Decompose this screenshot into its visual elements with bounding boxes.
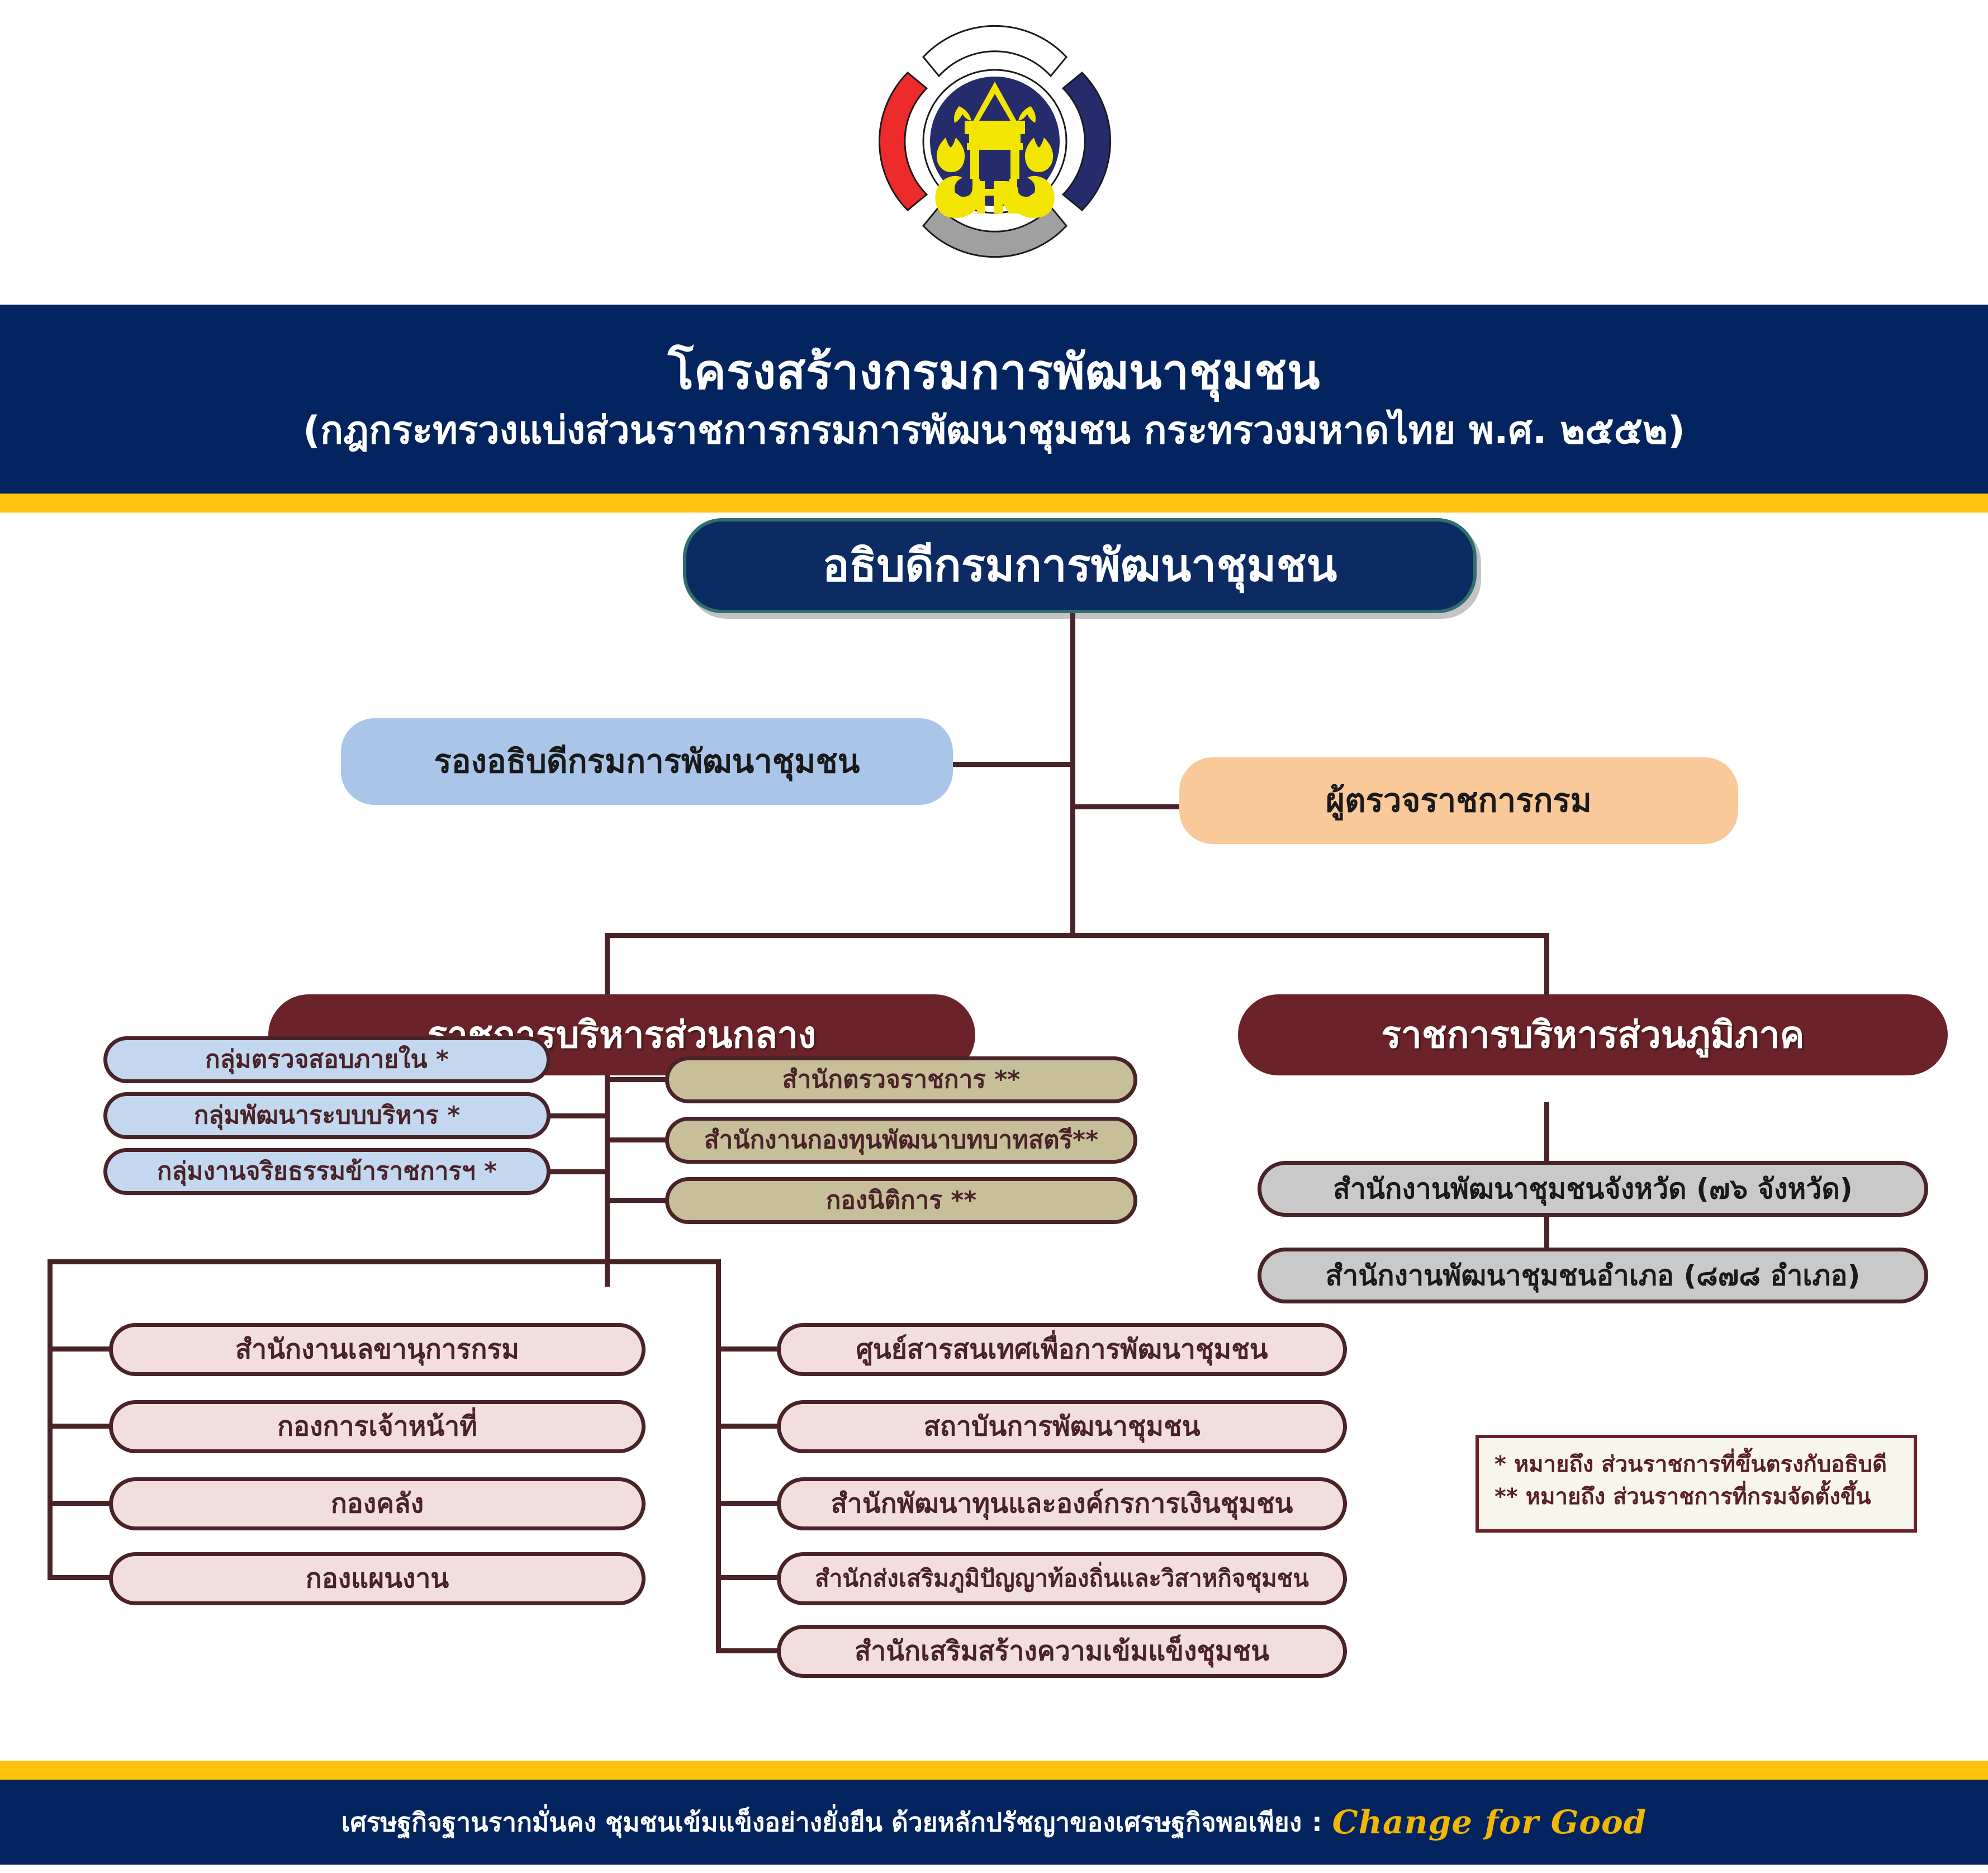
cdd-emblem-logo (861, 10, 1129, 273)
box-director-label: อธิบดีกรมการพัฒนาชุมชน (823, 542, 1337, 589)
footer-tagline: เศรษฐกิจฐานรากมั่นคง ชุมชนเข้มแข็งอย่างย… (341, 1802, 1302, 1843)
connector-olive-2 (605, 1137, 666, 1142)
connector-director-trunk (1070, 613, 1075, 937)
box-legal-affairs-division[interactable]: กองนิติการ ** (665, 1177, 1137, 1224)
box-office-of-the-secretary[interactable]: สำนักงานเลขานุการกรม (109, 1323, 646, 1376)
connector-olive-1 (605, 1077, 666, 1082)
connector-central-spine (605, 1046, 610, 1287)
header-accent-rule (0, 494, 1988, 513)
footer-slogan: Change for Good (1332, 1803, 1647, 1841)
box-community-strengthening-bureau[interactable]: สำนักเสริมสร้างความเข้มแข็งชุมชน (777, 1625, 1347, 1678)
connector-pinkL-2 (48, 1424, 112, 1429)
box-womens-development-fund-office-label: สำนักงานกองทุนพัฒนาบทบาทสตรี** (704, 1127, 1098, 1153)
box-admin-system-development-group[interactable]: กลุ่มพัฒนาระบบบริหาร * (103, 1092, 551, 1139)
connector-pinkL-3 (48, 1501, 112, 1506)
connector-blue-3 (548, 1169, 609, 1174)
page-subtitle: (กฎกระทรวงแบ่งส่วนราชการกรมการพัฒนาชุมชน… (303, 408, 1685, 454)
box-local-wisdom-and-enterprise-bureau-label: สำนักส่งเสริมภูมิปัญญาท้องถิ่นและวิสาหกิ… (815, 1566, 1309, 1591)
box-finance-division-label: กองคลัง (331, 1490, 424, 1518)
connector-lower-left-rail (48, 1259, 53, 1578)
box-personnel-division-label: กองการเจ้าหน้าที่ (277, 1412, 477, 1440)
box-admin-system-development-group-label: กลุ่มพัฒนาระบบบริหาร * (194, 1103, 461, 1128)
box-provincial-cdd-office[interactable]: สำนักงานพัฒนาชุมชนจังหวัด (๗๖ จังหวัด) (1258, 1161, 1928, 1217)
page-footer: เศรษฐกิจฐานรากมั่นคง ชุมชนเข้มแข็งอย่างย… (0, 1780, 1988, 1865)
box-community-development-institute[interactable]: สถาบันการพัฒนาชุมชน (777, 1400, 1347, 1453)
org-chart: อธิบดีกรมการพัฒนาชุมชน รองอธิบดีกรมการพั… (0, 513, 1988, 1759)
box-deputy-director[interactable]: รองอธิบดีกรมการพัฒนาชุมชน (341, 718, 953, 805)
connector-pinkR-5 (716, 1648, 780, 1653)
box-provincial-cdd-office-label: สำนักงานพัฒนาชุมชนจังหวัด (๗๖ จังหวัด) (1333, 1174, 1852, 1204)
box-deputy-director-label: รองอธิบดีกรมการพัฒนาชุมชน (434, 745, 860, 779)
box-community-development-institute-label: สถาบันการพัฒนาชุมชน (924, 1412, 1201, 1440)
page-header: โครงสร้างกรมการพัฒนาชุมชน (กฎกระทรวงแบ่ง… (0, 305, 1988, 494)
box-finance-division[interactable]: กองคลัง (109, 1477, 646, 1530)
box-internal-audit-group-label: กลุ่มตรวจสอบภายใน * (205, 1047, 449, 1073)
box-inspection-bureau[interactable]: สำนักตรวจราชการ ** (665, 1056, 1137, 1103)
box-department-inspector-label: ผู้ตรวจราชการกรม (1326, 784, 1592, 818)
legend-box: * หมายถึง ส่วนราชการที่ขึ้นตรงกับอธิบดี … (1475, 1435, 1917, 1533)
box-legal-affairs-division-label: กองนิติการ ** (826, 1188, 977, 1213)
box-district-cdd-office[interactable]: สำนักงานพัฒนาชุมชนอำเภอ (๘๗๘ อำเภอ) (1258, 1248, 1928, 1303)
box-personnel-division[interactable]: กองการเจ้าหน้าที่ (109, 1400, 646, 1453)
connector-regional-drop (1544, 933, 1549, 994)
box-planning-division[interactable]: กองแผนงาน (109, 1552, 646, 1605)
page-title: โครงสร้างกรมการพัฒนาชุมชน (668, 344, 1320, 401)
connector-lower-right-rail (716, 1259, 721, 1651)
connector-central-drop (605, 933, 610, 994)
connector-deputy (950, 762, 1073, 767)
cdd-emblem-svg (861, 10, 1129, 273)
connector-blue-2 (548, 1113, 609, 1118)
connector-main-bus (605, 933, 1549, 938)
box-community-development-information-center-label: ศูนย์สารสนเทศเพื่อการพัฒนาชุมชน (856, 1335, 1268, 1363)
box-planning-division-label: กองแผนงาน (306, 1564, 449, 1592)
box-department-inspector[interactable]: ผู้ตรวจราชการกรม (1179, 757, 1738, 844)
connector-pinkR-4 (716, 1575, 780, 1580)
box-internal-audit-group[interactable]: กลุ่มตรวจสอบภายใน * (103, 1036, 551, 1083)
connector-pinkR-1 (716, 1346, 780, 1352)
connector-inspector (1070, 804, 1182, 809)
box-local-wisdom-and-enterprise-bureau[interactable]: สำนักส่งเสริมภูมิปัญญาท้องถิ่นและวิสาหกิ… (777, 1552, 1347, 1605)
box-regional-administration[interactable]: ราชการบริหารส่วนภูมิภาค (1238, 994, 1948, 1075)
box-community-strengthening-bureau-label: สำนักเสริมสร้างความเข้มแข็งชุมชน (855, 1637, 1269, 1665)
box-community-development-information-center[interactable]: ศูนย์สารสนเทศเพื่อการพัฒนาชุมชน (777, 1323, 1347, 1376)
box-capital-and-community-finance-bureau[interactable]: สำนักพัฒนาทุนและองค์กรการเงินชุมชน (777, 1477, 1347, 1530)
box-regional-administration-label: ราชการบริหารส่วนภูมิภาค (1381, 1016, 1804, 1054)
box-office-of-the-secretary-label: สำนักงานเลขานุการกรม (235, 1335, 519, 1363)
box-womens-development-fund-office[interactable]: สำนักงานกองทุนพัฒนาบทบาทสตรี** (665, 1117, 1137, 1164)
legend-line-2: ** หมายถึง ส่วนราชการที่กรมจัดตั้งขึ้น (1494, 1481, 1898, 1513)
connector-lower-bus (48, 1259, 721, 1264)
connector-pinkR-2 (716, 1424, 780, 1429)
legend-line-1: * หมายถึง ส่วนราชการที่ขึ้นตรงกับอธิบดี (1494, 1448, 1898, 1481)
connector-olive-3 (605, 1198, 666, 1203)
footer-separator: : (1312, 1807, 1322, 1837)
connector-pinkL-1 (48, 1346, 112, 1352)
connector-pinkR-3 (716, 1501, 780, 1506)
box-director[interactable]: อธิบดีกรมการพัฒนาชุมชน (683, 518, 1477, 613)
connector-pinkL-4 (48, 1575, 112, 1580)
box-inspection-bureau-label: สำนักตรวจราชการ ** (782, 1067, 1021, 1093)
footer-accent-rule (0, 1761, 1988, 1780)
box-capital-and-community-finance-bureau-label: สำนักพัฒนาทุนและองค์กรการเงินชุมชน (831, 1490, 1293, 1518)
box-civil-service-ethics-group[interactable]: กลุ่มงานจริยธรรมข้าราชการฯ * (103, 1148, 551, 1195)
box-civil-service-ethics-group-label: กลุ่มงานจริยธรรมข้าราชการฯ * (157, 1159, 497, 1184)
box-district-cdd-office-label: สำนักงานพัฒนาชุมชนอำเภอ (๘๗๘ อำเภอ) (1326, 1261, 1861, 1291)
